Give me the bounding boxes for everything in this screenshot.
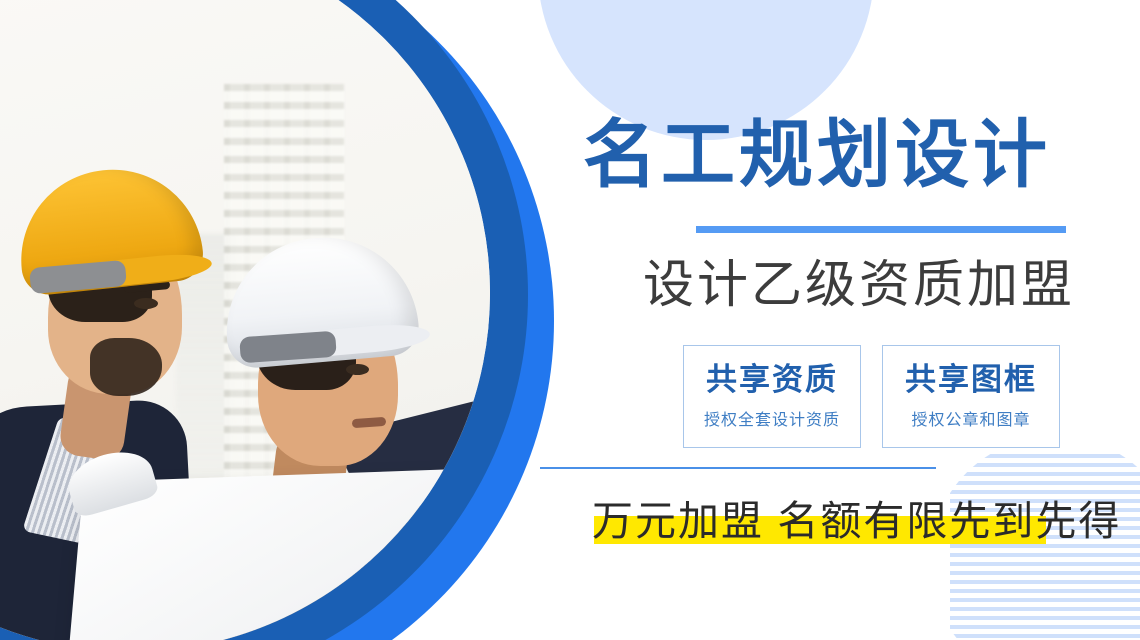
feature-badge-group: 共享资质 授权全套设计资质 共享图框 授权公章和图章 bbox=[683, 345, 1060, 448]
page-subtitle: 设计乙级资质加盟 bbox=[643, 256, 1075, 315]
badge-title: 共享资质 bbox=[706, 363, 838, 397]
text-panel: 名工规划设计 设计乙级资质加盟 共享资质 授权全套设计资质 共享图框 授权公章和… bbox=[0, 0, 1140, 640]
badge-title: 共享图框 bbox=[905, 363, 1037, 397]
promo-poster: 名工规划设计 设计乙级资质加盟 共享资质 授权全套设计资质 共享图框 授权公章和… bbox=[0, 0, 1140, 640]
page-title: 名工规划设计 bbox=[583, 118, 1051, 192]
tagline-text: 万元加盟 名额有限先到先得 bbox=[592, 492, 1121, 551]
feature-badge-shared-qualification[interactable]: 共享资质 授权全套设计资质 bbox=[683, 345, 861, 448]
badge-subtitle: 授权公章和图章 bbox=[911, 406, 1030, 430]
tagline-divider-rule bbox=[540, 467, 936, 469]
feature-badge-shared-drawing-frame[interactable]: 共享图框 授权公章和图章 bbox=[882, 345, 1060, 448]
badge-subtitle: 授权全套设计资质 bbox=[704, 406, 840, 430]
title-underline-rule bbox=[696, 226, 1066, 233]
tagline-container: 万元加盟 名额有限先到先得 bbox=[592, 492, 1121, 554]
